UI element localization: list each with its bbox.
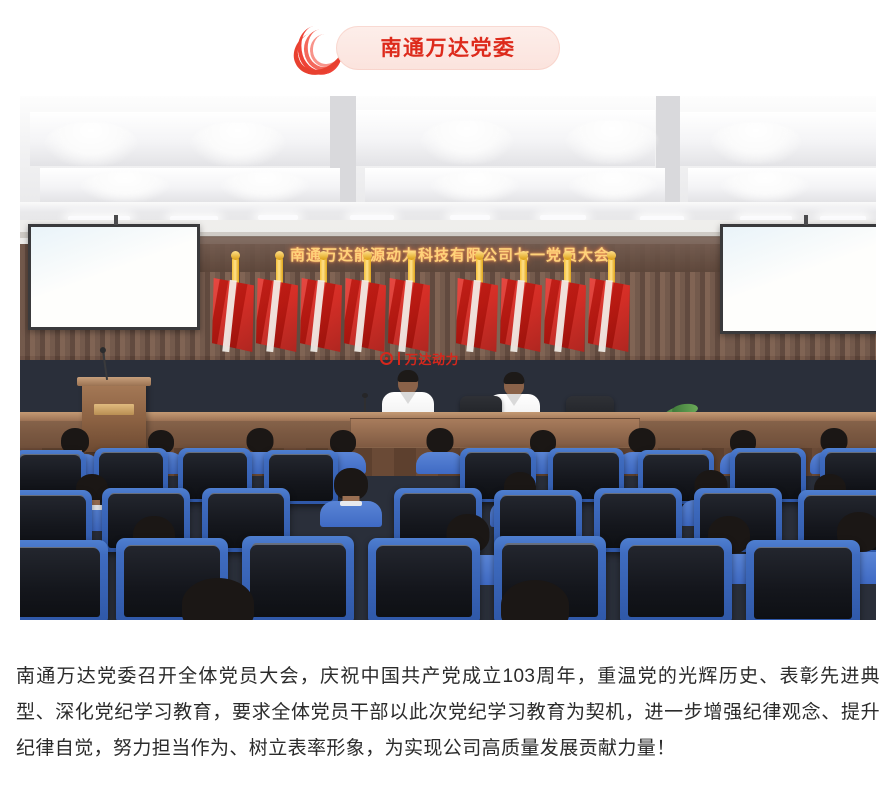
flag	[592, 264, 632, 350]
ceiling	[20, 96, 876, 228]
auditorium-seat	[746, 540, 860, 620]
article-paragraph: 南通万达党委召开全体党员大会，庆祝中国共产党成立103周年，重温党的光辉历史、表…	[16, 659, 880, 767]
auditorium-seat	[20, 540, 108, 620]
auditorium-seat	[620, 538, 732, 620]
meeting-banner-text: 南通万达能源动力科技有限公司七一党员大会	[290, 244, 610, 265]
flag	[216, 264, 256, 350]
flag	[548, 264, 588, 350]
projection-screen-right	[720, 224, 876, 334]
flag	[348, 264, 388, 350]
attendee	[320, 468, 382, 524]
projection-screen-left	[28, 224, 200, 330]
flag	[260, 264, 300, 350]
podium-plate	[94, 404, 134, 415]
logo-divider	[398, 352, 400, 365]
logo-text: 万达动力	[405, 349, 459, 368]
company-logo: 万达动力	[380, 349, 459, 368]
article-page: 南通万达党委	[0, 0, 896, 792]
flag	[304, 264, 344, 350]
attendee	[416, 428, 464, 472]
page-title: 南通万达党委	[381, 38, 516, 59]
article-header: 南通万达党委	[0, 0, 896, 96]
title-pill: 南通万达党委	[336, 26, 560, 70]
title-badge: 南通万达党委	[292, 20, 604, 76]
logo-emblem-icon	[380, 352, 393, 365]
flag	[504, 264, 544, 350]
flag	[460, 264, 500, 350]
conference-photo: 南通万达能源动力科技有限公司七一党员大会 万达动力	[20, 96, 876, 620]
attendee	[490, 580, 580, 620]
attendee	[170, 578, 266, 620]
audience-seating	[20, 428, 876, 620]
auditorium-seat	[368, 538, 480, 620]
flag	[392, 264, 432, 350]
ribbon-swoosh-right-icon	[560, 23, 604, 73]
ribbon-swoosh-left-icon	[292, 23, 336, 73]
